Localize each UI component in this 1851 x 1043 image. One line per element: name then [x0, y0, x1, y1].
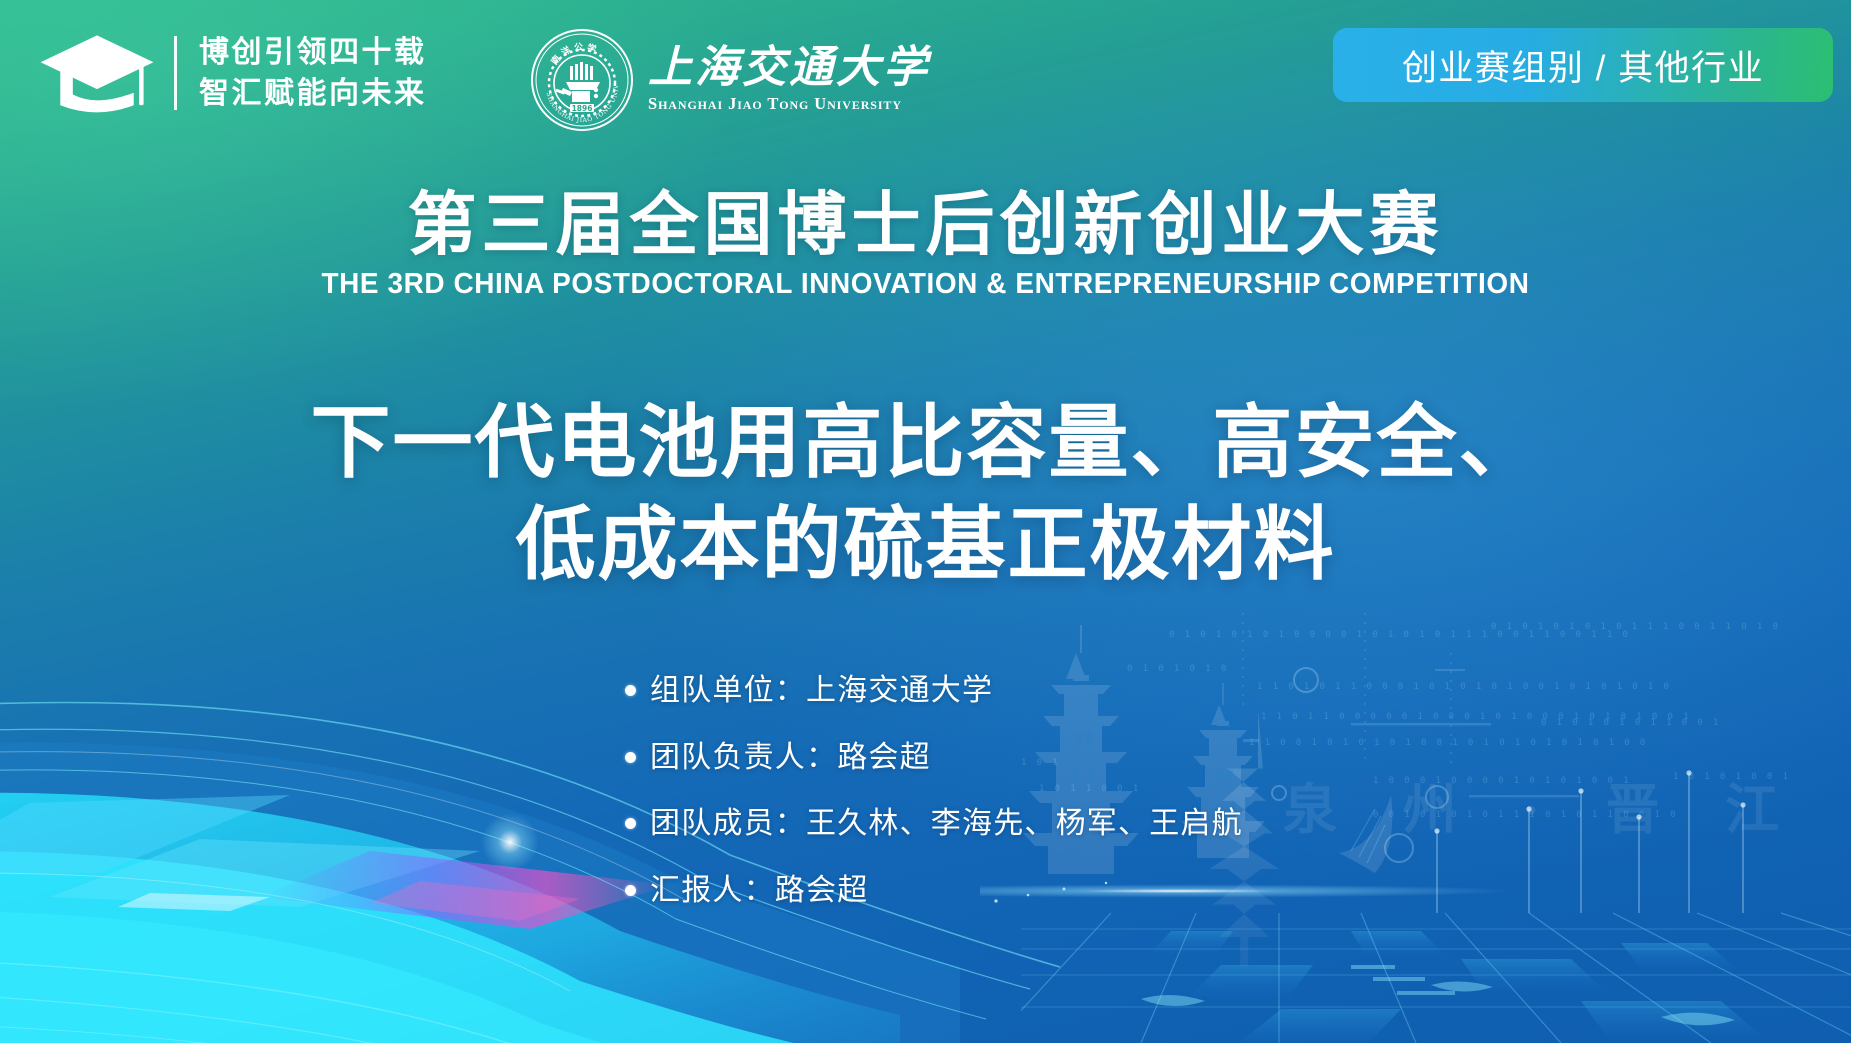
bullet-icon — [625, 818, 636, 829]
bullet-icon — [625, 885, 636, 896]
sjtu-seal-icon: 1896 南 洋 公 学 SHANGHAI JIAO TONG UNIVERSI… — [530, 28, 634, 132]
competition-title-en: THE 3RD CHINA POSTDOCTORAL INNOVATION & … — [19, 267, 1833, 301]
competition-title-block: 第三届全国博士后创新创业大赛 THE 3RD CHINA POSTDOCTORA… — [0, 186, 1851, 301]
team-info-row: 汇报人：路会超 — [625, 872, 1243, 910]
competition-slogan: 博创引领四十载 智汇赋能向未来 — [199, 35, 427, 111]
svg-text:1 1 0 1 0 1 1 0 0 0 1 0 1 0 1: 1 1 0 1 0 1 1 0 0 0 1 0 1 0 1 0 1 0 0 1 … — [1257, 682, 1671, 692]
svg-text:南 洋 公 学: 南 洋 公 学 — [548, 41, 598, 67]
university-name-cn: 上海交通大学 — [648, 46, 930, 90]
project-title: 下一代电池用高比容量、高安全、 低成本的硫基正极材料 — [0, 392, 1851, 597]
team-info-row: 团队负责人：路会超 — [625, 739, 1243, 777]
svg-text:0 0 1 0 1 0 1 0 1 1 1 0 1 0: 0 0 1 0 1 0 1 0 1 1 1 0 1 0 1 1 0 0 1 0 — [1373, 810, 1678, 820]
bullet-icon — [625, 685, 636, 696]
category-badge-label: 创业赛组别 / 其他行业 — [1402, 40, 1764, 91]
team-members-label: 团队成员：王久林、李海先、杨军、王启航 — [650, 805, 1243, 843]
university-name-en: Shanghai Jiao Tong University — [648, 94, 930, 114]
graduation-cap-logo-icon — [38, 30, 156, 116]
logo-divider — [174, 36, 177, 110]
svg-text:1 0 1 0 1 0 0 1: 1 0 1 0 1 0 0 1 — [1673, 772, 1790, 782]
team-info-list: 组队单位：上海交通大学 团队负责人：路会超 团队成员：王久林、李海先、杨军、王启… — [625, 672, 1243, 909]
svg-text:0 1 0 1 0 1 0 1 0 0 0 0 1 0 1: 0 1 0 1 0 1 0 1 0 0 0 0 1 0 1 0 1 0 1 1 … — [1169, 630, 1630, 640]
svg-text:0 1 0 1 0 1 0 1 0 1 1 1 0 0: 0 1 0 1 0 1 0 1 0 1 1 1 0 0 1 1 0 1 0 — [1491, 622, 1780, 632]
university-logo-group: 1896 南 洋 公 学 SHANGHAI JIAO TONG UNIVERSI… — [530, 28, 930, 132]
project-title-line-1: 下一代电池用高比容量、高安全、 — [0, 392, 1851, 494]
slide-root: 0 1 0 1 0 1 0 1 0 0 0 0 1 0 1 0 1 0 1 1 … — [0, 0, 1851, 1043]
host-city-watermark: 泉 州 · 晋 江 — [1283, 765, 1805, 844]
competition-title-cn: 第三届全国博士后创新创业大赛 — [0, 186, 1851, 263]
left-light-flare — [380, 782, 640, 902]
category-badge: 创业赛组别 / 其他行业 — [1333, 28, 1833, 102]
seal-year: 1896 — [572, 104, 593, 113]
university-wordmark: 上海交通大学 Shanghai Jiao Tong University — [648, 46, 930, 114]
team-info-row: 组队单位：上海交通大学 — [625, 672, 1243, 710]
team-unit-label: 组队单位：上海交通大学 — [650, 672, 993, 710]
slogan-line-1: 博创引领四十载 — [199, 35, 427, 70]
svg-text:1 0 0 0 1 0 0 0 0 1 0 1 0 1: 1 0 0 0 1 0 0 0 0 1 0 1 0 1 0 0 1 — [1373, 776, 1631, 786]
slogan-line-2: 智汇赋能向未来 — [199, 76, 427, 111]
competition-logo-group: 博创引领四十载 智汇赋能向未来 — [38, 30, 427, 116]
bullet-icon — [625, 752, 636, 763]
svg-text:0 1 0 1 0 1 0 1 1 0 0 1: 0 1 0 1 0 1 0 1 1 0 0 1 — [1541, 718, 1721, 728]
svg-text:1 1 0 1 1 0 0 0 0 0 1 0 0 0 1: 1 1 0 1 1 0 0 0 0 0 1 0 0 0 1 0 1 0 0 0 … — [1261, 712, 1691, 722]
team-leader-label: 团队负责人：路会超 — [650, 739, 931, 777]
team-info-row: 团队成员：王久林、李海先、杨军、王启航 — [625, 805, 1243, 843]
project-title-line-2: 低成本的硫基正极材料 — [0, 494, 1851, 596]
header: 博创引领四十载 智汇赋能向未来 — [0, 0, 1851, 150]
presenter-label: 汇报人：路会超 — [650, 872, 868, 910]
svg-text:1 1 0 0 1 0 1 0 1 0 1 0 0 1 0: 1 1 0 0 1 0 1 0 1 0 1 0 0 1 0 1 0 1 0 1 … — [1249, 738, 1648, 748]
